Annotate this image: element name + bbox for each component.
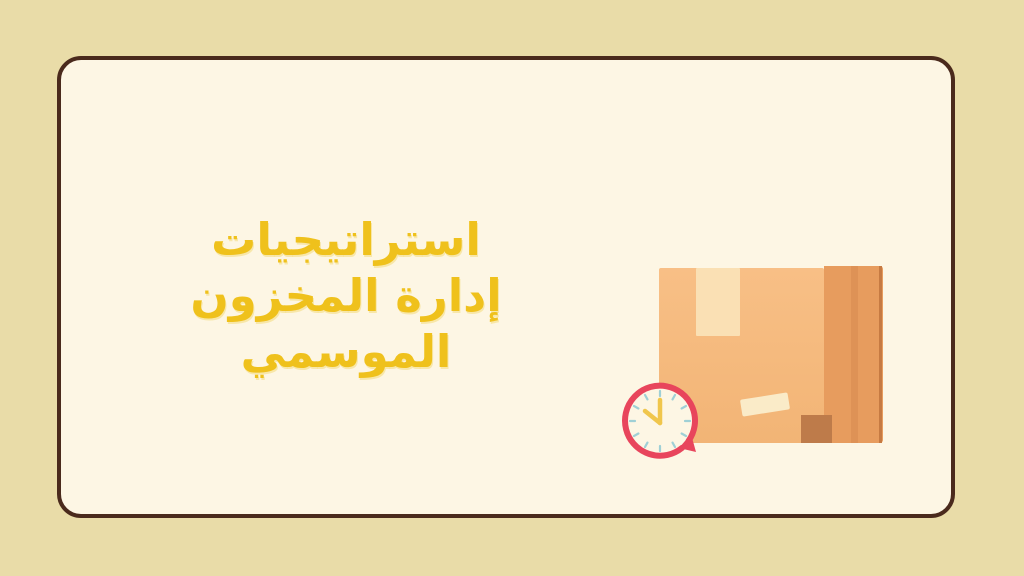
box-side-stripe (851, 266, 858, 443)
box-flap (696, 268, 740, 336)
clock-icon (619, 378, 705, 464)
slide-canvas: استراتيجيات إدارة المخزون الموسمي (0, 0, 1024, 576)
title-line-1: استراتيجيات (171, 212, 521, 268)
title-line-3: الموسمي (171, 324, 521, 380)
card-frame: استراتيجيات إدارة المخزون الموسمي (57, 56, 955, 518)
box-dark-square (801, 415, 832, 443)
title-line-2: إدارة المخزون (171, 268, 521, 324)
corner-flourish-ornament (817, 478, 955, 518)
box-side-edge (879, 266, 882, 443)
page-title: استراتيجيات إدارة المخزون الموسمي (171, 212, 521, 380)
